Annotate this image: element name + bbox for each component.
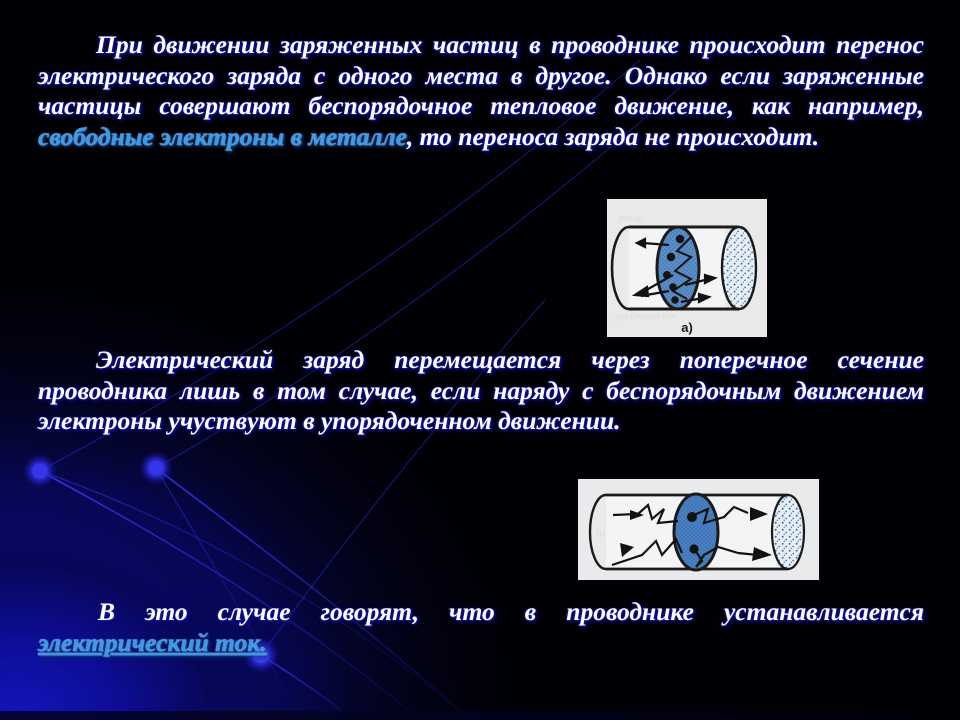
figure-conductor-random-motion: ние ко кол рое сечение пло bbox=[607, 199, 767, 337]
bottom-edge-bar bbox=[0, 711, 960, 720]
paragraph-2-run-1: Электрический заряд перемещается через п… bbox=[38, 345, 924, 435]
paragraph-1: При движении заряженных частиц в проводн… bbox=[38, 30, 924, 152]
svg-text:рое сечение пло: рое сечение пло bbox=[615, 311, 677, 321]
paragraph-1-run-1: При движении заряженных частиц в проводн… bbox=[38, 30, 924, 120]
svg-text:ние ко: ние ко bbox=[619, 213, 644, 223]
paragraph-3: В это случае говорят, что в проводнике у… bbox=[38, 597, 924, 658]
highlighted-phrase-free-electrons: свободные электроны в металле bbox=[38, 122, 407, 151]
paragraph-2: Электрический заряд перемещается через п… bbox=[38, 345, 924, 437]
figure-1-caption: а) bbox=[681, 320, 693, 335]
paragraph-3-run-1: В это случае говорят, что в проводнике у… bbox=[98, 597, 924, 626]
slide-canvas: При движении заряженных частиц в проводн… bbox=[0, 0, 960, 720]
paragraph-1-run-3: , то переноса заряда не происходит. bbox=[407, 122, 819, 151]
link-electric-current[interactable]: электрический ток. bbox=[38, 628, 267, 657]
figure-conductor-ordered-motion: ВИЖЕНИЕ бес bbox=[578, 479, 819, 580]
